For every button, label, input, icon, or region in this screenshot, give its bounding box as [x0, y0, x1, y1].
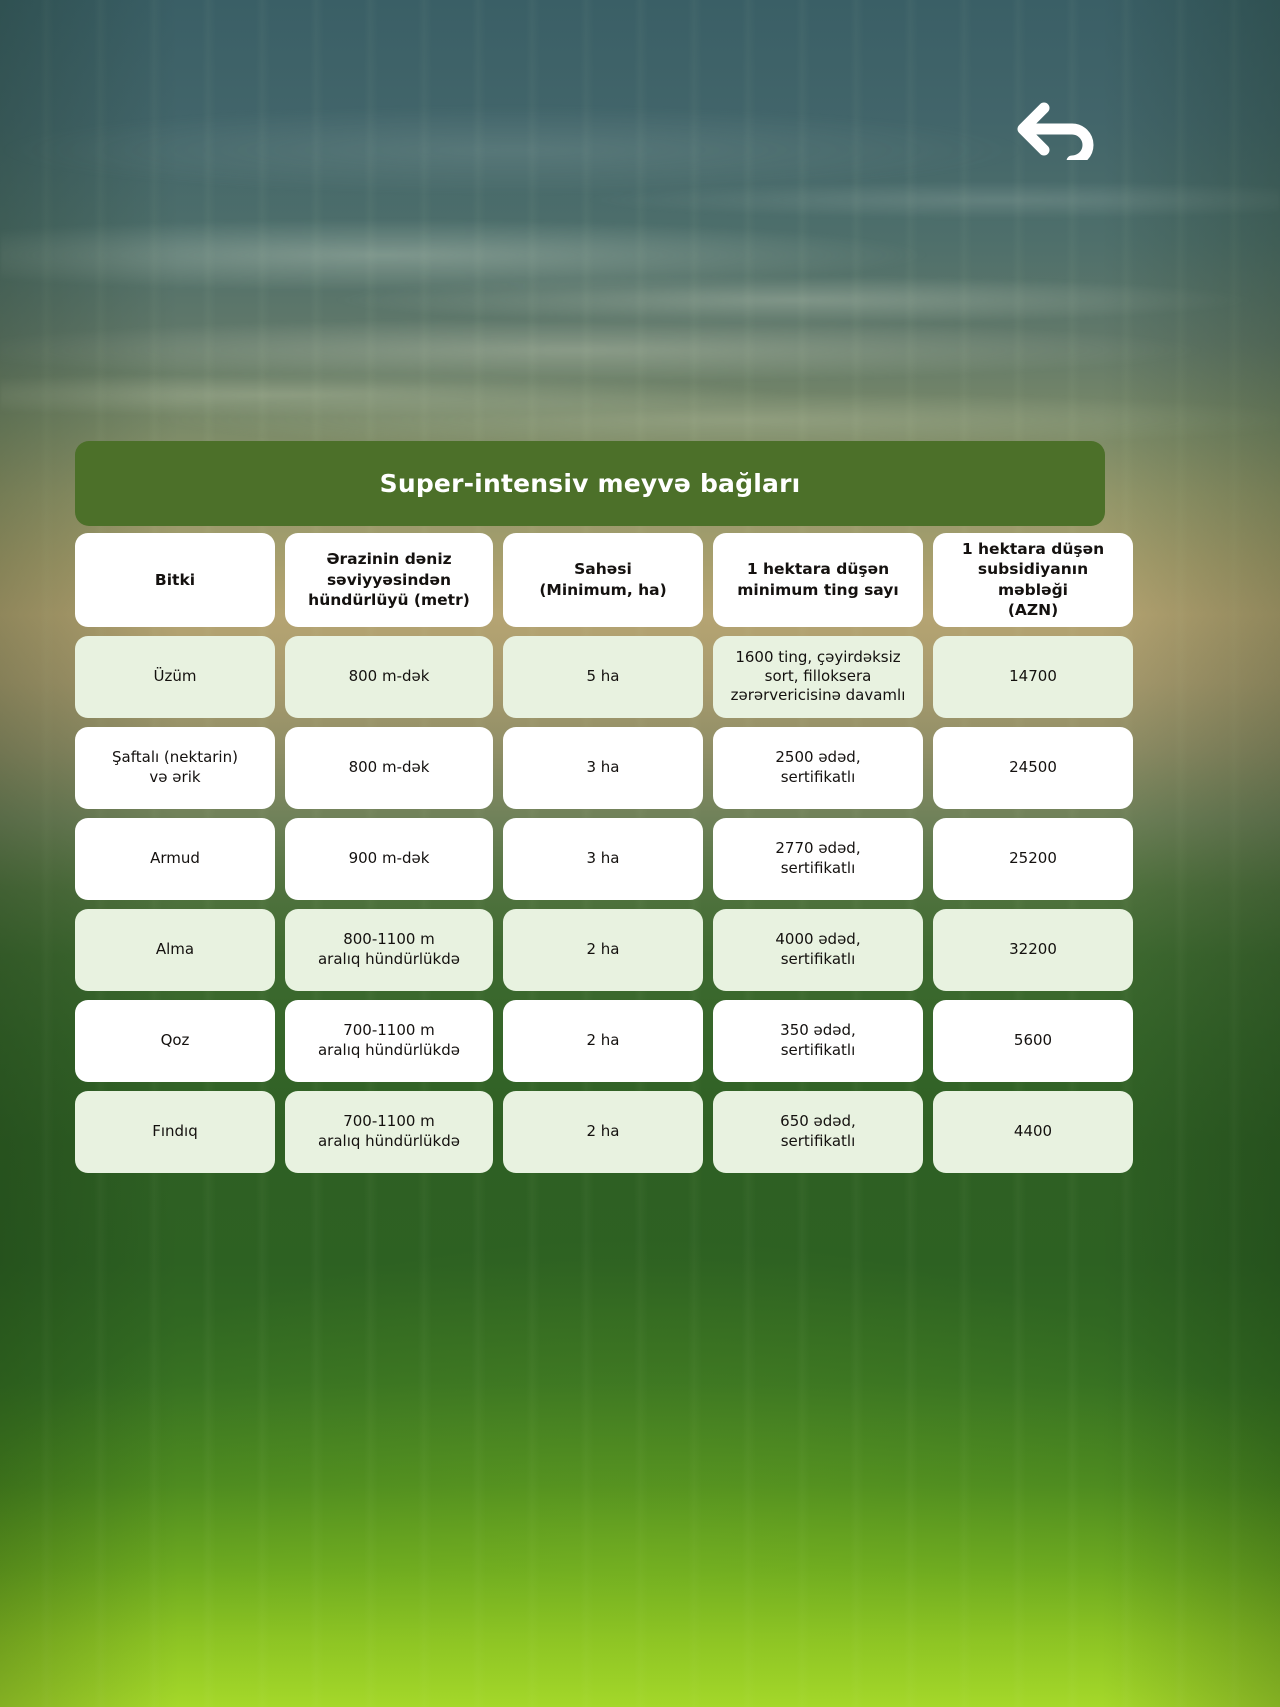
table-row: Armud900 m-dək3 ha2770 ədəd,sertifikatlı… — [75, 818, 1105, 900]
cell-area: 2 ha — [503, 909, 703, 991]
cell-altitude-text: 800 m-dək — [349, 758, 430, 778]
back-button[interactable] — [990, 96, 1110, 162]
cell-plant: Fındıq — [75, 1091, 275, 1173]
cell-plant-text: Alma — [156, 940, 194, 960]
table-row: Üzüm800 m-dək5 ha1600 ting, çəyirdəksizs… — [75, 636, 1105, 718]
table-header-cell-label: Bitki — [155, 570, 195, 590]
table-title-text: Super-intensiv meyvə bağları — [380, 469, 801, 498]
cell-altitude-text: 900 m-dək — [349, 849, 430, 869]
table-header-cell: 1 hektara düşənsubsidiyanın məbləği(AZN) — [933, 533, 1133, 627]
cell-altitude: 900 m-dək — [285, 818, 493, 900]
cell-seedlings-text: 650 ədəd,sertifikatlı — [780, 1112, 856, 1152]
cell-altitude-text: 700-1100 maralıq hündürlükdə — [318, 1021, 460, 1061]
cell-area: 2 ha — [503, 1000, 703, 1082]
table-row: Alma800-1100 maralıq hündürlükdə2 ha4000… — [75, 909, 1105, 991]
cell-altitude: 800-1100 maralıq hündürlükdə — [285, 909, 493, 991]
table-header-cell: Sahəsi(Minimum, ha) — [503, 533, 703, 627]
cell-subsidy: 5600 — [933, 1000, 1133, 1082]
cell-seedlings-text: 1600 ting, çəyirdəksizsort, fillokserazə… — [731, 648, 906, 706]
table-row: Qoz700-1100 maralıq hündürlükdə2 ha350 ə… — [75, 1000, 1105, 1082]
cell-plant-text: Fındıq — [152, 1122, 198, 1142]
cell-plant: Alma — [75, 909, 275, 991]
cell-area-text: 3 ha — [586, 849, 619, 869]
cell-area-text: 5 ha — [586, 667, 619, 687]
cell-area: 3 ha — [503, 727, 703, 809]
cell-plant: Qoz — [75, 1000, 275, 1082]
cell-subsidy-text: 32200 — [1009, 940, 1057, 960]
cell-seedlings: 2500 ədəd,sertifikatlı — [713, 727, 923, 809]
cell-altitude-text: 800 m-dək — [349, 667, 430, 687]
cell-subsidy: 32200 — [933, 909, 1133, 991]
table-header-cell-label: 1 hektara düşənsubsidiyanın məbləği(AZN) — [943, 539, 1123, 621]
cell-seedlings: 350 ədəd,sertifikatlı — [713, 1000, 923, 1082]
cell-seedlings-text: 350 ədəd,sertifikatlı — [780, 1021, 856, 1061]
table-header-cell-label: 1 hektara düşənminimum ting sayı — [737, 559, 898, 600]
table-header-cell-label: Sahəsi(Minimum, ha) — [539, 559, 666, 600]
cell-plant-text: Üzüm — [154, 667, 197, 687]
cell-altitude: 800 m-dək — [285, 727, 493, 809]
cell-seedlings-text: 2500 ədəd,sertifikatlı — [775, 748, 860, 788]
cell-plant-text: Şaftalı (nektarin)və ərik — [112, 748, 238, 788]
cell-seedlings: 4000 ədəd,sertifikatlı — [713, 909, 923, 991]
table-header-cell: 1 hektara düşənminimum ting sayı — [713, 533, 923, 627]
cell-altitude: 800 m-dək — [285, 636, 493, 718]
cell-plant: Şaftalı (nektarin)və ərik — [75, 727, 275, 809]
cell-seedlings: 1600 ting, çəyirdəksizsort, fillokserazə… — [713, 636, 923, 718]
cell-area-text: 2 ha — [586, 1122, 619, 1142]
cell-subsidy-text: 25200 — [1009, 849, 1057, 869]
cell-altitude-text: 700-1100 maralıq hündürlükdə — [318, 1112, 460, 1152]
table-header-cell: Ərazinin dənizsəviyyəsindənhündürlüyü (m… — [285, 533, 493, 627]
cell-altitude: 700-1100 maralıq hündürlükdə — [285, 1000, 493, 1082]
cell-altitude-text: 800-1100 maralıq hündürlükdə — [318, 930, 460, 970]
cell-area: 2 ha — [503, 1091, 703, 1173]
cell-subsidy-text: 4400 — [1014, 1122, 1052, 1142]
cell-subsidy-text: 24500 — [1009, 758, 1057, 778]
table-row: Şaftalı (nektarin)və ərik800 m-dək3 ha25… — [75, 727, 1105, 809]
cell-subsidy-text: 5600 — [1014, 1031, 1052, 1051]
cell-area-text: 2 ha — [586, 940, 619, 960]
cell-plant: Üzüm — [75, 636, 275, 718]
table-header-row: BitkiƏrazinin dənizsəviyyəsindənhündürlü… — [75, 533, 1105, 627]
cell-area-text: 2 ha — [586, 1031, 619, 1051]
table-header-cell-label: Ərazinin dənizsəviyyəsindənhündürlüyü (m… — [308, 549, 470, 610]
cell-area-text: 3 ha — [586, 758, 619, 778]
cell-seedlings-text: 2770 ədəd,sertifikatlı — [775, 839, 860, 879]
cell-subsidy: 4400 — [933, 1091, 1133, 1173]
cell-seedlings: 2770 ədəd,sertifikatlı — [713, 818, 923, 900]
cell-subsidy: 14700 — [933, 636, 1133, 718]
cell-altitude: 700-1100 maralıq hündürlükdə — [285, 1091, 493, 1173]
back-undo-arrow-icon — [994, 98, 1106, 160]
subsidy-table: Super-intensiv meyvə bağları BitkiƏrazin… — [75, 441, 1105, 1182]
table-header-cell: Bitki — [75, 533, 275, 627]
cell-area: 3 ha — [503, 818, 703, 900]
cell-plant-text: Armud — [150, 849, 200, 869]
cell-seedlings: 650 ədəd,sertifikatlı — [713, 1091, 923, 1173]
table-title: Super-intensiv meyvə bağları — [75, 441, 1105, 526]
cell-plant: Armud — [75, 818, 275, 900]
cell-plant-text: Qoz — [161, 1031, 190, 1051]
cell-subsidy-text: 14700 — [1009, 667, 1057, 687]
cell-subsidy: 24500 — [933, 727, 1133, 809]
table-row: Fındıq700-1100 maralıq hündürlükdə2 ha65… — [75, 1091, 1105, 1173]
cell-subsidy: 25200 — [933, 818, 1133, 900]
cell-seedlings-text: 4000 ədəd,sertifikatlı — [775, 930, 860, 970]
cell-area: 5 ha — [503, 636, 703, 718]
